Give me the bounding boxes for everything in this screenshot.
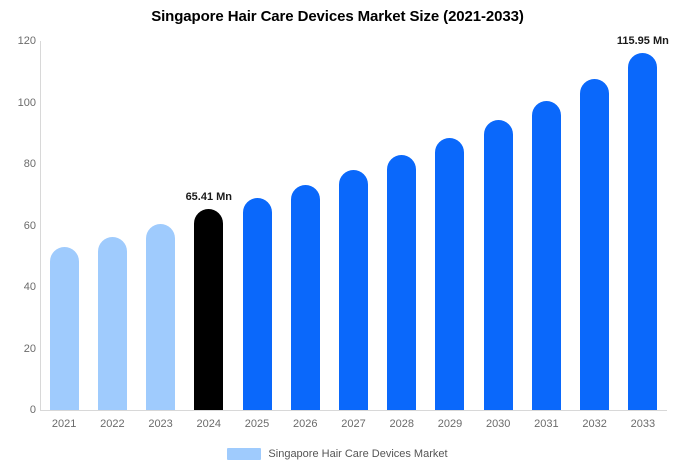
y-tick-label: 60 (4, 220, 36, 232)
bar-group[interactable] (146, 41, 175, 410)
x-tick-label-2033: 2033 (631, 418, 655, 430)
y-tick-label: 0 (4, 404, 36, 416)
y-tick-label: 120 (4, 35, 36, 47)
x-tick-label-2025: 2025 (245, 418, 269, 430)
bar-group[interactable] (532, 41, 561, 410)
bar-group[interactable] (291, 41, 320, 410)
y-axis-tick-labels: 020406080100120 (0, 0, 36, 469)
x-axis-tick-labels: 2021202220232024202520262027202820292030… (40, 418, 667, 436)
chart-title: Singapore Hair Care Devices Market Size … (0, 8, 675, 25)
x-tick-label-2022: 2022 (100, 418, 124, 430)
x-tick-label-2027: 2027 (341, 418, 365, 430)
bar-2023[interactable] (146, 224, 175, 410)
chart-legend: Singapore Hair Care Devices Market (0, 448, 675, 460)
bar-2022[interactable] (98, 237, 127, 410)
bar-2032[interactable] (580, 79, 609, 410)
bar-2033[interactable] (628, 53, 657, 410)
x-tick-label-2026: 2026 (293, 418, 317, 430)
bar-group[interactable]: 115.95 Mn (628, 41, 657, 410)
x-tick-label-2029: 2029 (438, 418, 462, 430)
bar-group[interactable] (580, 41, 609, 410)
bar-value-label: 115.95 Mn (617, 35, 669, 47)
bar-group[interactable] (435, 41, 464, 410)
bar-2024[interactable] (194, 209, 223, 410)
y-tick-label: 40 (4, 281, 36, 293)
x-axis-line (40, 410, 667, 411)
y-tick-label: 20 (4, 343, 36, 355)
bar-group[interactable] (243, 41, 272, 410)
bar-group[interactable] (339, 41, 368, 410)
x-tick-label-2021: 2021 (52, 418, 76, 430)
x-tick-label-2032: 2032 (582, 418, 606, 430)
bar-group[interactable] (98, 41, 127, 410)
legend-swatch (227, 448, 261, 460)
bar-2021[interactable] (50, 247, 79, 410)
bar-2028[interactable] (387, 155, 416, 410)
x-tick-label-2024: 2024 (197, 418, 221, 430)
bars-layer: 65.41 Mn115.95 Mn (40, 41, 667, 410)
x-tick-label-2031: 2031 (534, 418, 558, 430)
bar-group[interactable] (50, 41, 79, 410)
y-tick-label: 80 (4, 158, 36, 170)
bar-2030[interactable] (484, 120, 513, 410)
x-tick-label-2023: 2023 (148, 418, 172, 430)
bar-2026[interactable] (291, 185, 320, 410)
y-tick-label: 100 (4, 97, 36, 109)
bar-2027[interactable] (339, 170, 368, 410)
bar-group[interactable]: 65.41 Mn (194, 41, 223, 410)
x-tick-label-2028: 2028 (389, 418, 413, 430)
x-tick-label-2030: 2030 (486, 418, 510, 430)
bar-value-label: 65.41 Mn (186, 191, 232, 203)
bar-2029[interactable] (435, 138, 464, 410)
bar-2031[interactable] (532, 101, 561, 410)
bar-group[interactable] (387, 41, 416, 410)
bar-2025[interactable] (243, 198, 272, 410)
bar-group[interactable] (484, 41, 513, 410)
legend-label[interactable]: Singapore Hair Care Devices Market (268, 448, 447, 460)
